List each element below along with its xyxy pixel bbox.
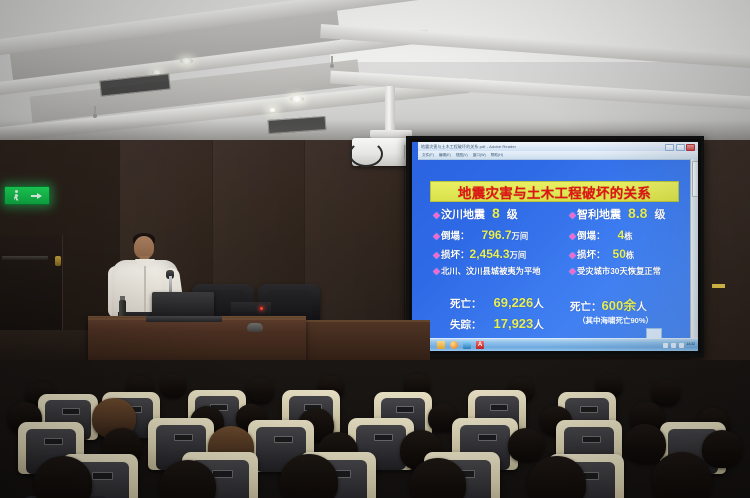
projector-cable <box>349 141 383 167</box>
diamond-bullet-icon <box>433 251 440 258</box>
diamond-bullet-icon <box>433 233 440 240</box>
diamond-bullet-icon <box>433 212 440 219</box>
taskbar-clock[interactable]: 14:32 <box>687 343 696 347</box>
seat-number-plate <box>212 470 233 478</box>
door-push-bar[interactable] <box>2 256 48 260</box>
audience-head <box>702 430 742 468</box>
seat-number-plate <box>92 472 113 480</box>
pdf-scrollbar[interactable] <box>690 159 698 339</box>
stat-unit: 栋 <box>626 249 634 261</box>
tray-ime-icon[interactable] <box>679 343 684 348</box>
right-arrow-icon <box>31 192 42 200</box>
seat-number-plate <box>478 434 497 441</box>
seat-number-plate <box>582 436 601 443</box>
seat-number-plate <box>274 436 293 443</box>
casualty-value: 69,226 <box>494 295 534 310</box>
diamond-bullet-icon <box>569 212 576 219</box>
seat-number-plate <box>62 408 80 415</box>
casualty-unit: 人 <box>636 299 647 314</box>
stat-note: 受灾城市30天恢复正常 <box>577 265 661 277</box>
projection-screen-frame: 地震灾害与土木工程破坏的关系.pdf - Adobe Reader 文件(F) … <box>406 136 704 357</box>
stat-row-note: 受灾城市30天恢复正常 <box>570 265 690 277</box>
seat-number-plate <box>396 406 414 413</box>
heading-magnitude: 8 <box>492 205 500 221</box>
door-handle[interactable] <box>55 256 61 266</box>
menu-item-help[interactable]: 帮助(H) <box>491 153 503 158</box>
seat-number-plate <box>374 434 393 441</box>
stat-row-damaged: 损坏： 2,454.3 万间 <box>434 247 564 261</box>
sprinkler-icon <box>330 64 334 68</box>
casualty-value: 17,923 <box>494 316 534 331</box>
projector-brand-label <box>712 284 725 288</box>
ceiling-downlight-icon <box>180 58 193 64</box>
lecture-hall-photo: 地震灾害与土木工程破坏的关系.pdf - Adobe Reader 文件(F) … <box>0 0 750 498</box>
menu-item-view[interactable]: 视图(V) <box>456 153 468 158</box>
slide-column-chile: 智利地震 8.8 级 倒塌： 4 栋 <box>570 205 690 282</box>
stat-row-note: 北川、汶川县城被夷为平地 <box>434 265 564 277</box>
diamond-bullet-icon <box>569 233 576 240</box>
laptop-keyboard[interactable] <box>146 316 222 322</box>
casualty-label: 失踪： <box>450 317 482 332</box>
stat-unit: 栋 <box>624 230 632 242</box>
audience-area <box>0 360 750 498</box>
menu-item-file[interactable]: 文件(F) <box>422 153 434 158</box>
running-man-icon <box>13 190 20 201</box>
stat-label: 倒塌： <box>577 228 606 242</box>
casualty-row-deaths: 死亡： 69,226 人 <box>450 295 578 311</box>
audience-head <box>624 424 666 464</box>
heading-unit: 级 <box>654 206 665 222</box>
stat-row-damaged: 损坏： 50 栋 <box>570 247 690 261</box>
casualties-wenchuan: 死亡： 69,226 人 失踪： 17,923 人 <box>436 295 578 337</box>
heading-unit: 级 <box>507 206 518 222</box>
menu-item-window[interactable]: 窗口(W) <box>473 153 486 158</box>
stat-value: 2,454.3 <box>470 247 510 261</box>
audience-head <box>246 378 274 404</box>
menu-item-edit[interactable]: 编辑(E) <box>439 153 451 158</box>
taskbar-icons[interactable]: A <box>437 341 484 349</box>
audience-head <box>652 380 680 406</box>
diamond-bullet-icon <box>433 268 440 275</box>
pdf-reader-icon[interactable]: A <box>476 341 484 349</box>
heading-magnitude: 8.8 <box>628 205 647 221</box>
stat-note: 北川、汶川县城被夷为平地 <box>441 265 541 277</box>
casualties-chile: 死亡： 600余 人 （其中海啸死亡90%） <box>570 295 690 326</box>
pdf-window-title: 地震灾害与土木工程破坏的关系.pdf - Adobe Reader <box>421 144 516 150</box>
stat-unit: 万间 <box>510 249 527 261</box>
slide-column-wenchuan: 汶川地震 8 级 倒塌： 796.7 万间 <box>434 205 564 282</box>
casualty-row-deaths: 死亡： 600余 人 <box>570 295 690 314</box>
slide-title-banner: 地震灾害与土木工程破坏的关系 <box>430 181 679 202</box>
window-controls[interactable] <box>665 144 695 151</box>
presenter-shirt-placket <box>144 266 146 314</box>
stat-label: 损坏： <box>577 247 606 261</box>
stat-row-collapsed: 倒塌： 4 栋 <box>570 228 690 242</box>
folder-icon[interactable] <box>437 341 445 349</box>
column-heading: 智利地震 8.8 级 <box>570 205 690 222</box>
stat-row-collapsed: 倒塌： 796.7 万间 <box>434 228 564 242</box>
column-heading: 汶川地震 8 级 <box>434 205 564 222</box>
projection-screen: 地震灾害与土木工程破坏的关系.pdf - Adobe Reader 文件(F) … <box>412 142 698 351</box>
slide-title-text: 地震灾害与土木工程破坏的关系 <box>458 182 651 202</box>
diamond-bullet-icon <box>569 268 576 275</box>
exit-sign <box>4 186 50 205</box>
minimize-button[interactable] <box>665 144 674 151</box>
system-tray[interactable]: 14:32 <box>663 343 696 348</box>
computer-mouse[interactable] <box>247 323 263 332</box>
casualty-label: 死亡： <box>570 299 602 314</box>
tray-volume-icon[interactable] <box>671 343 676 348</box>
windows-taskbar[interactable]: A 14:32 <box>418 338 698 351</box>
casualty-unit: 人 <box>533 296 544 311</box>
projector-mount-pole <box>385 86 395 134</box>
close-button[interactable] <box>686 144 695 151</box>
stat-value: 796.7 <box>482 228 512 242</box>
ceiling-downlight-icon <box>268 108 277 112</box>
sprinkler-icon <box>93 114 97 118</box>
tray-network-icon[interactable] <box>663 343 668 348</box>
casualty-note: （其中海啸死亡90%） <box>578 315 690 326</box>
casualty-row-missing: 失踪： 17,923 人 <box>450 316 578 332</box>
seat-number-plate <box>580 406 598 413</box>
casualty-label: 死亡： <box>450 296 482 311</box>
heading-label: 智利地震 <box>577 206 621 222</box>
audience-head <box>508 428 544 462</box>
ceiling-downlight-icon <box>290 96 304 102</box>
seat-number-plate <box>490 404 508 411</box>
stat-label: 损坏： <box>441 247 470 261</box>
seat-number-plate <box>44 438 63 445</box>
seat-number-plate <box>174 434 193 441</box>
browser-icon[interactable] <box>450 341 458 349</box>
scrollbar-thumb[interactable] <box>692 161 698 197</box>
stat-label: 倒塌： <box>441 228 470 242</box>
casualty-value: 600余 <box>602 295 637 314</box>
maximize-button[interactable] <box>676 144 685 151</box>
status-led-indicator <box>260 307 263 310</box>
media-player-icon[interactable] <box>463 341 471 349</box>
stat-value: 50 <box>613 247 626 261</box>
pdf-document-area: 地震灾害与土木工程破坏的关系 汶川地震 8 级 倒塌： <box>418 159 690 339</box>
casualty-unit: 人 <box>533 317 544 332</box>
audience-head <box>160 374 186 398</box>
heading-label: 汶川地震 <box>441 206 485 222</box>
diamond-bullet-icon <box>569 251 576 258</box>
stat-unit: 万间 <box>512 230 529 242</box>
side-door[interactable] <box>0 235 63 345</box>
